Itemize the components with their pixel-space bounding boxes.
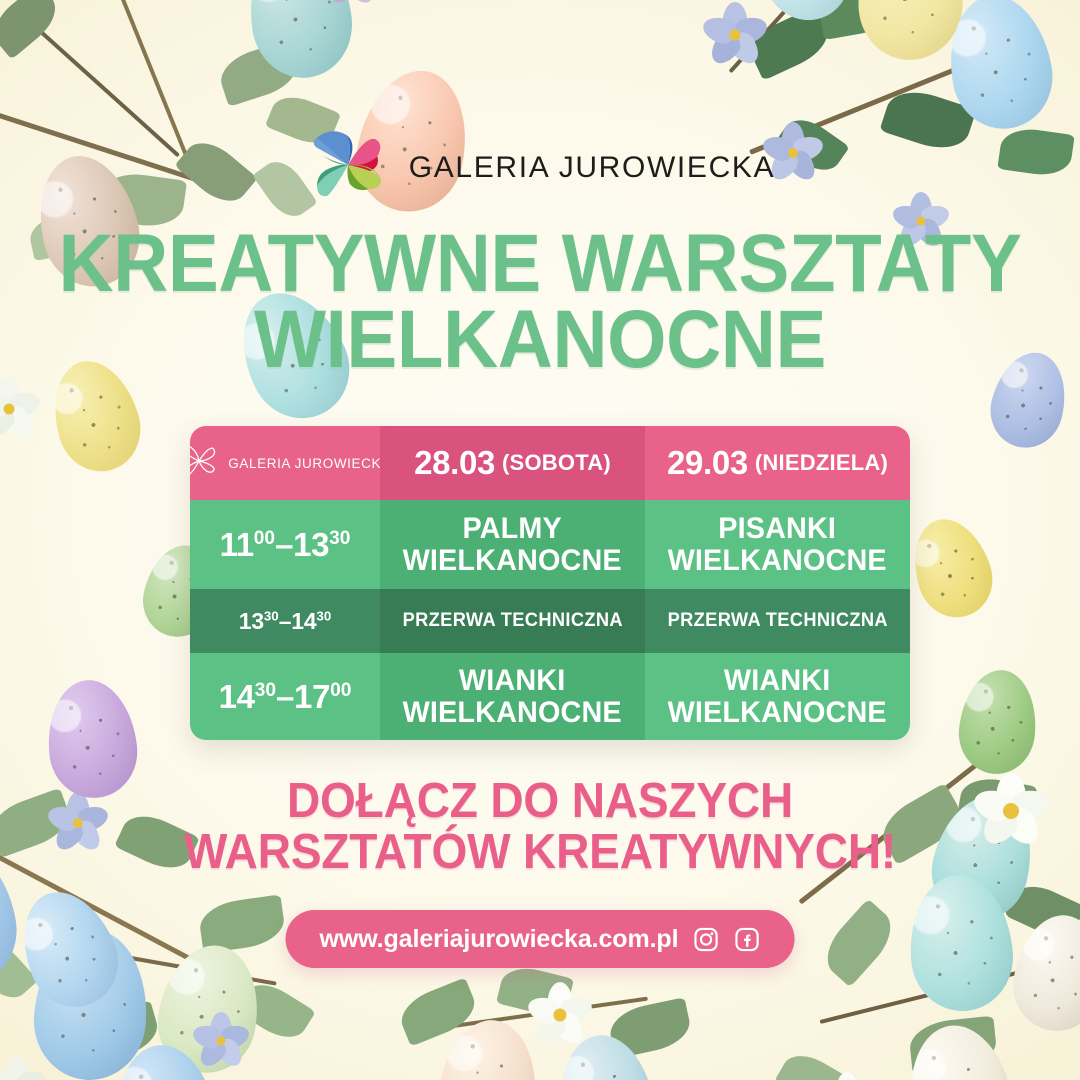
headline-line-2: WIELKANOCNE: [38, 302, 1042, 378]
brand-name: GALERIA JUROWIECKA: [409, 151, 775, 185]
schedule-header-day-0: 28.03 (SOBOTA): [380, 426, 645, 500]
sat-0-line-1: PALMY: [463, 512, 562, 545]
facebook-icon[interactable]: [733, 926, 760, 953]
header-weekday-1: (NIEDZIELA): [755, 450, 888, 476]
decor-egg: [853, 0, 971, 65]
website-url[interactable]: www.galeriajurowiecka.com.pl: [320, 925, 679, 954]
cta-line-2: WARSZTATÓW KREATYWNYCH!: [32, 827, 1047, 878]
schedule-table: GALERIA JUROWIECKA 28.03 (SOBOTA) 29.03 …: [190, 426, 910, 740]
time-1-end-hour: 14: [291, 608, 316, 634]
egg-green-right: [955, 666, 1041, 777]
time-1-end-min: 30: [316, 608, 331, 623]
decor-egg: [905, 872, 1016, 1015]
decor-egg: [0, 837, 25, 993]
decor-egg: [241, 0, 359, 84]
time-1-start-hour: 13: [239, 608, 264, 634]
website-pill[interactable]: www.galeriajurowiecka.com.pl: [286, 910, 795, 968]
sun-0-line-1: PISANKI: [719, 512, 837, 545]
decor-egg: [939, 0, 1061, 137]
schedule-sat-2: WIANKI WIELKANOCNE: [380, 653, 645, 740]
time-0-end-min: 30: [329, 528, 350, 549]
schedule-header-logo-cell: GALERIA JUROWIECKA: [190, 426, 380, 500]
sun-0-line-2: WIELKANOCNE: [668, 544, 887, 577]
time-0-start-hour: 11: [220, 526, 254, 563]
sat-1-line-1: PRZERWA TECHNICZNA: [402, 610, 622, 632]
sat-0-line-2: WIELKANOCNE: [403, 544, 622, 577]
time-2-start-min: 30: [255, 680, 276, 701]
sat-2-line-1: WIANKI: [459, 664, 565, 697]
time-2-end-min: 00: [330, 680, 351, 701]
decor-egg: [6, 878, 132, 1020]
pinwheel-logo-icon: [305, 122, 391, 213]
schedule-header-logo-label: GALERIA JUROWIECKA: [228, 456, 390, 471]
schedule-time-1: 1330–1430: [190, 589, 380, 653]
time-0-start-min: 00: [254, 528, 275, 549]
egg-yellow-right: [901, 509, 1002, 627]
decor-egg: [744, 0, 862, 31]
schedule-time-0: 1100–1330: [190, 500, 380, 589]
decor-egg: [434, 1015, 543, 1080]
time-0-end-hour: 13: [293, 526, 329, 563]
pinwheel-outline-icon: [190, 441, 219, 486]
header-date-1: 29.03: [667, 444, 748, 482]
page-title: KREATYWNE WARSZTATY WIELKANOCNE: [38, 226, 1042, 379]
decor-egg: [108, 1040, 221, 1080]
schedule-time-2: 1430–1700: [190, 653, 380, 740]
brand-header: GALERIA JUROWIECKA: [0, 122, 1080, 213]
header-weekday-0: (SOBOTA): [502, 450, 611, 476]
sun-2-line-2: WIELKANOCNE: [668, 696, 887, 729]
decor-egg: [552, 1029, 660, 1080]
decor-egg: [150, 937, 269, 1080]
schedule-sun-1: PRZERWA TECHNICZNA: [645, 589, 910, 653]
time-1-start-min: 30: [264, 608, 279, 623]
easter-workshop-poster: GALERIA JUROWIECKA KREATYWNE WARSZTATY W…: [0, 0, 1080, 1080]
decor-bottom-center: [380, 950, 740, 1080]
sat-2-line-2: WIELKANOCNE: [403, 696, 622, 729]
sun-2-line-1: WIANKI: [724, 664, 830, 697]
decor-egg: [1007, 909, 1080, 1036]
decor-egg: [30, 926, 152, 1080]
schedule-sun-0: PISANKI WIELKANOCNE: [645, 500, 910, 589]
instagram-icon[interactable]: [692, 926, 719, 953]
schedule-sun-2: WIANKI WIELKANOCNE: [645, 653, 910, 740]
schedule-sat-0: PALMY WIELKANOCNE: [380, 500, 645, 589]
decor-egg: [899, 1017, 1020, 1080]
cta-line-1: DOŁĄCZ DO NASZYCH: [287, 774, 793, 828]
time-2-start-hour: 14: [219, 678, 255, 715]
schedule-header-day-1: 29.03 (NIEDZIELA): [645, 426, 910, 500]
call-to-action: DOŁĄCZ DO NASZYCH WARSZTATÓW KREATYWNYCH…: [32, 776, 1047, 878]
header-date-0: 28.03: [414, 444, 495, 482]
time-2-end-hour: 17: [294, 678, 330, 715]
sun-1-line-1: PRZERWA TECHNICZNA: [667, 610, 887, 632]
schedule-sat-1: PRZERWA TECHNICZNA: [380, 589, 645, 653]
